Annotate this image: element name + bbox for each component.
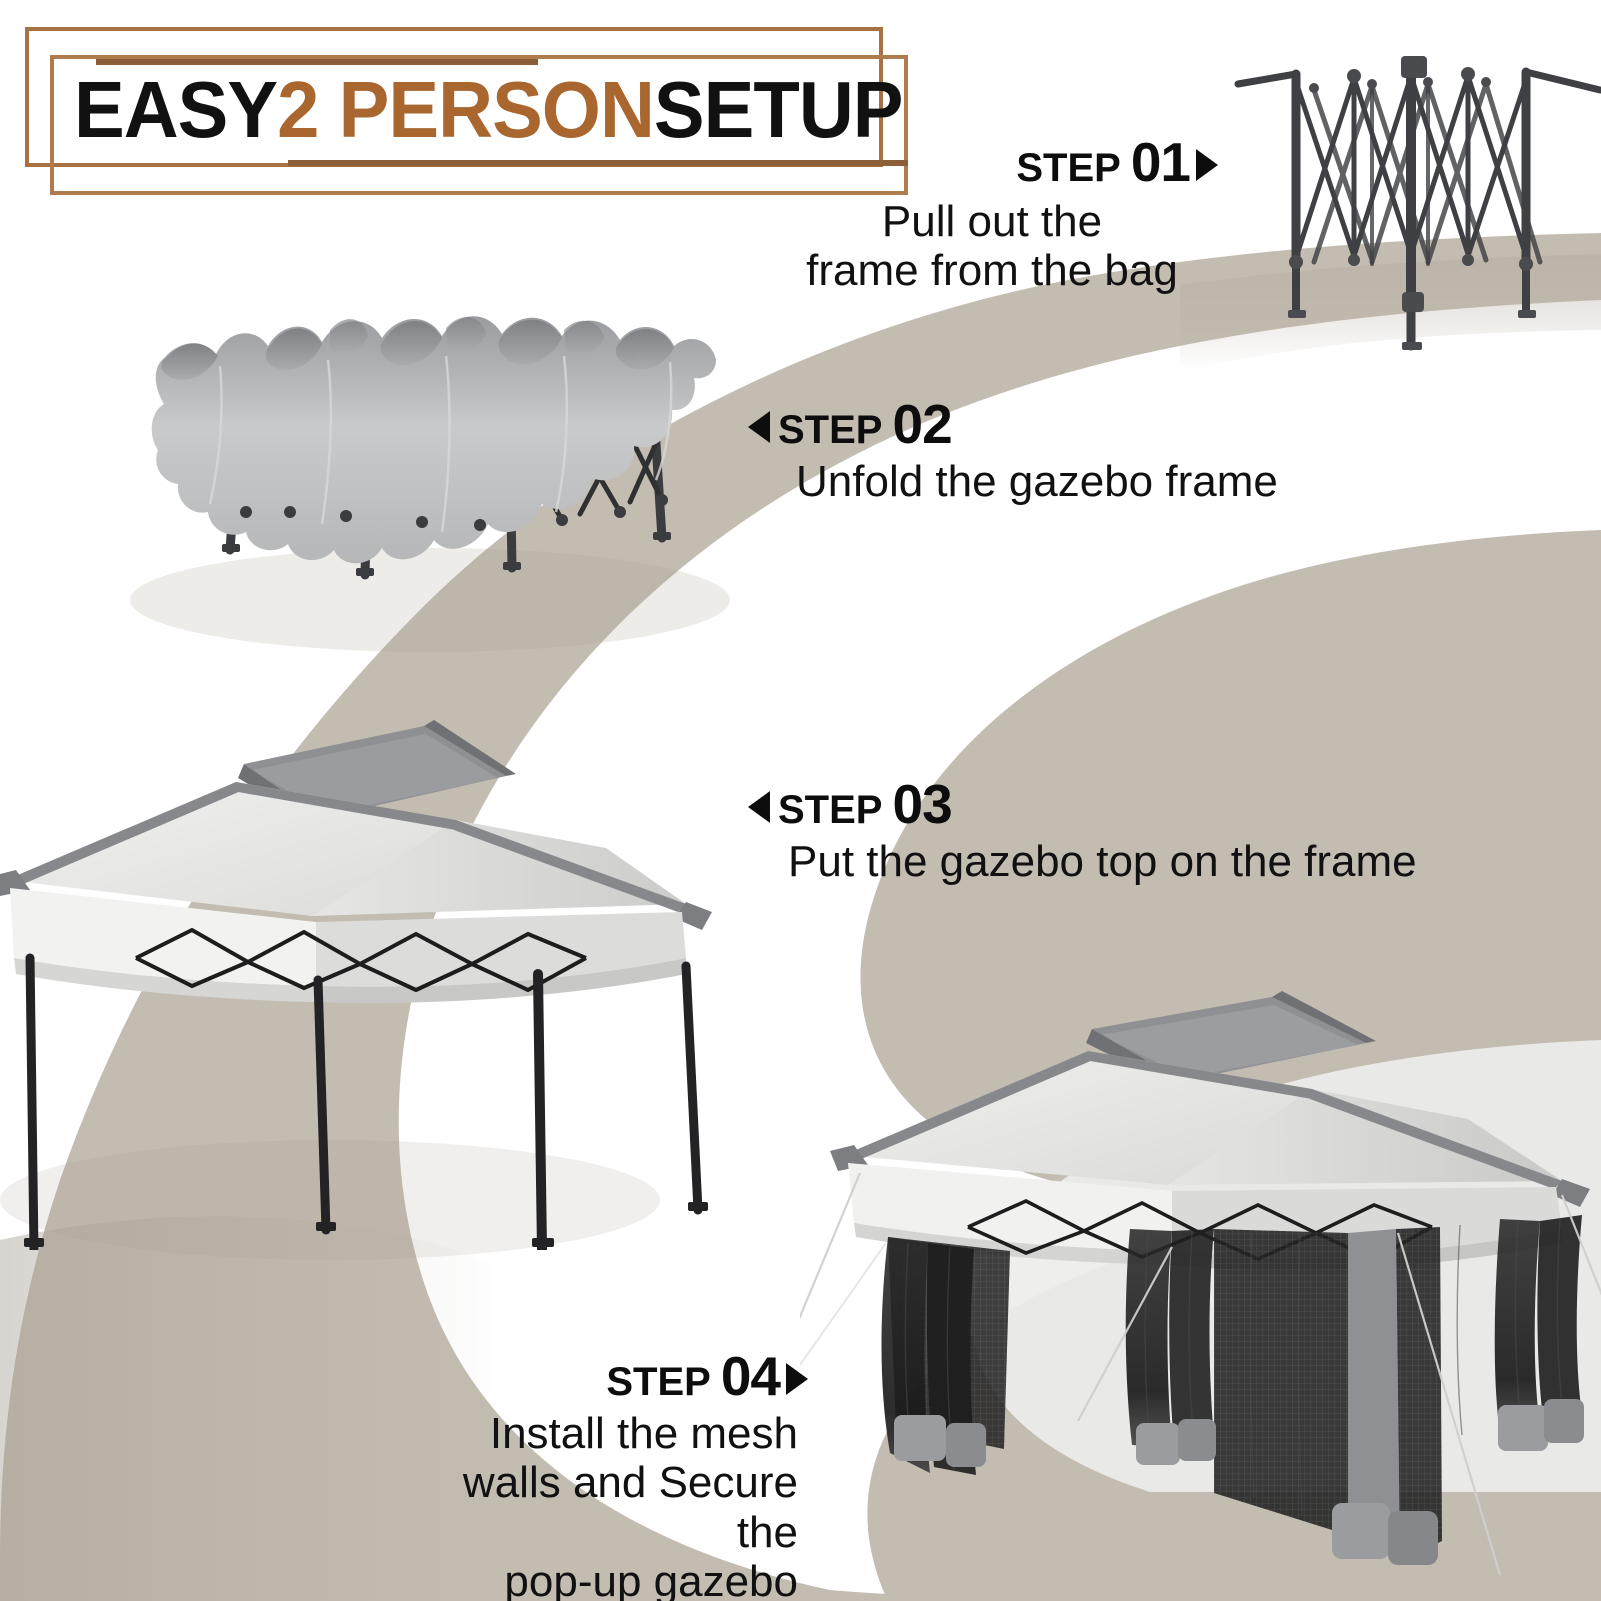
step-02-label: STEP xyxy=(778,408,882,453)
step-01-body: Pull out the frame from the bag xyxy=(766,197,1218,296)
step-02-number: 02 xyxy=(892,400,951,450)
step-01-callout: STEP 01 Pull out the frame from the bag xyxy=(766,138,1218,296)
step-03-label: STEP xyxy=(778,788,882,833)
step-03-callout: STEP 03 Put the gazebo top on the frame xyxy=(748,780,1488,886)
title-part-easy: EASY xyxy=(74,64,277,156)
step-03-heading: STEP 03 xyxy=(748,780,1488,833)
step-04-number: 04 xyxy=(721,1352,780,1402)
title-part-accent: 2 PERSON xyxy=(277,64,654,156)
step-04-callout: STEP 04 Install the mesh walls and Secur… xyxy=(404,1352,824,1601)
gazebo-frame-folded-illustration xyxy=(1196,46,1601,366)
step-04-heading: STEP 04 xyxy=(404,1352,824,1405)
page-title-text: EASY 2 PERSON SETUP xyxy=(74,62,853,158)
step-02-body: Unfold the gazebo frame xyxy=(748,457,1308,506)
gazebo-canopy-illustration xyxy=(0,690,726,1250)
triangle-left-icon xyxy=(748,791,770,823)
step-03-number: 03 xyxy=(892,780,951,830)
step-01-number: 01 xyxy=(1131,138,1190,188)
gazebo-mesh-walls-illustration xyxy=(800,975,1601,1601)
step-04-label: STEP xyxy=(606,1360,710,1405)
step-02-heading: STEP 02 xyxy=(748,400,1308,453)
step-01-heading: STEP 01 xyxy=(766,138,1218,191)
step-03-body: Put the gazebo top on the frame xyxy=(748,837,1488,886)
gazebo-frame-draped-illustration xyxy=(150,300,730,640)
triangle-left-icon xyxy=(748,411,770,443)
infographic-canvas: EASY 2 PERSON SETUP STEP 01 Pull out the… xyxy=(0,0,1601,1601)
step-01-label: STEP xyxy=(1016,146,1120,191)
step-02-callout: STEP 02 Unfold the gazebo frame xyxy=(748,400,1308,506)
step-04-body: Install the mesh walls and Secure the po… xyxy=(404,1409,824,1601)
